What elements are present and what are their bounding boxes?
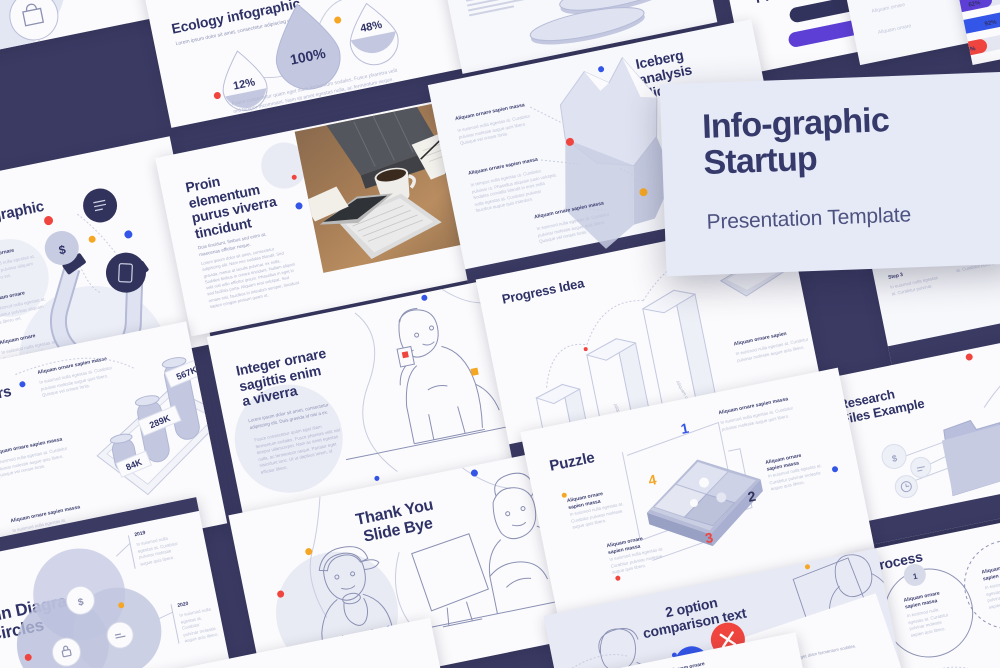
- slide-title: Proin elementum purus viverra tincidunt: [184, 157, 314, 242]
- slide-caption: Aliquam ornare sapien massa: [0, 64, 43, 65]
- svg-text:1: 1: [679, 420, 690, 437]
- hero-title-card[interactable]: Info-graphic Startup Presentation Templa…: [660, 72, 1000, 277]
- presentation-preview-collage: $ $ $ Aliquam ornare sapien massa Ecolo: [0, 0, 1000, 668]
- step-label-3: Step 3: [888, 272, 904, 281]
- svg-text:4: 4: [647, 471, 658, 488]
- slide-icons-funnel[interactable]: $ $ $ Aliquam ornare sapien massa: [0, 0, 164, 65]
- bar-label-2: Aliquam ornare: [871, 2, 906, 16]
- bar-label-3: Aliquam ornare: [877, 23, 912, 37]
- hero-title: Info-graphic Startup: [702, 103, 891, 181]
- slide-caption: Aliquam ornare sapien massa: [668, 661, 707, 668]
- hero-subtitle: Presentation Template: [706, 203, 911, 234]
